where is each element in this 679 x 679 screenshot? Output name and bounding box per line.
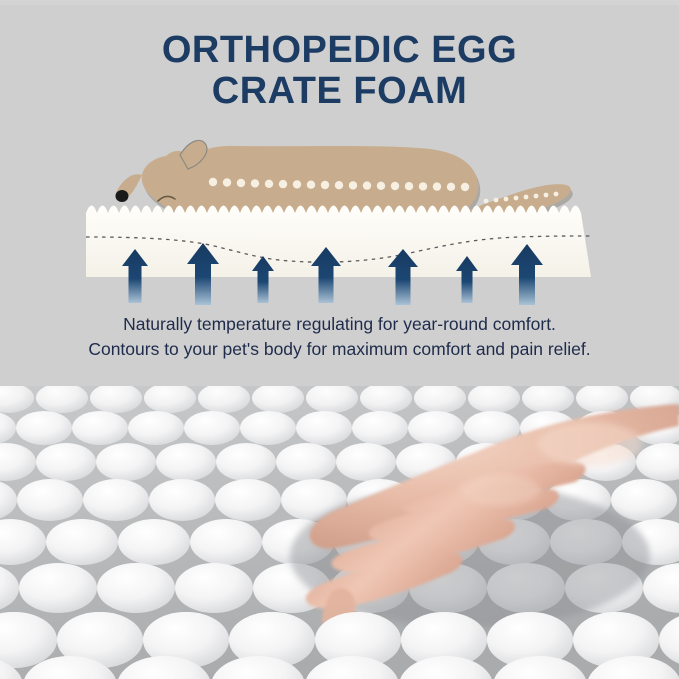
title-line-1: ORTHOPEDIC EGG — [0, 30, 679, 71]
dog-on-foam-illustration — [0, 125, 679, 305]
title-line-2: CRATE FOAM — [0, 71, 679, 112]
hand-pressing-foam-photo — [0, 386, 679, 679]
dog-nose — [116, 190, 129, 202]
feature-line-1: Naturally temperature regulating for yea… — [0, 312, 679, 337]
infographic-top-panel: ORTHOPEDIC EGG CRATE FOAM — [0, 0, 679, 386]
page-title: ORTHOPEDIC EGG CRATE FOAM — [0, 30, 679, 112]
feature-line-2: Contours to your pet's body for maximum … — [0, 337, 679, 362]
feature-description: Naturally temperature regulating for yea… — [0, 312, 679, 362]
product-infographic: ORTHOPEDIC EGG CRATE FOAM — [0, 0, 679, 679]
foam-slab — [86, 206, 591, 278]
